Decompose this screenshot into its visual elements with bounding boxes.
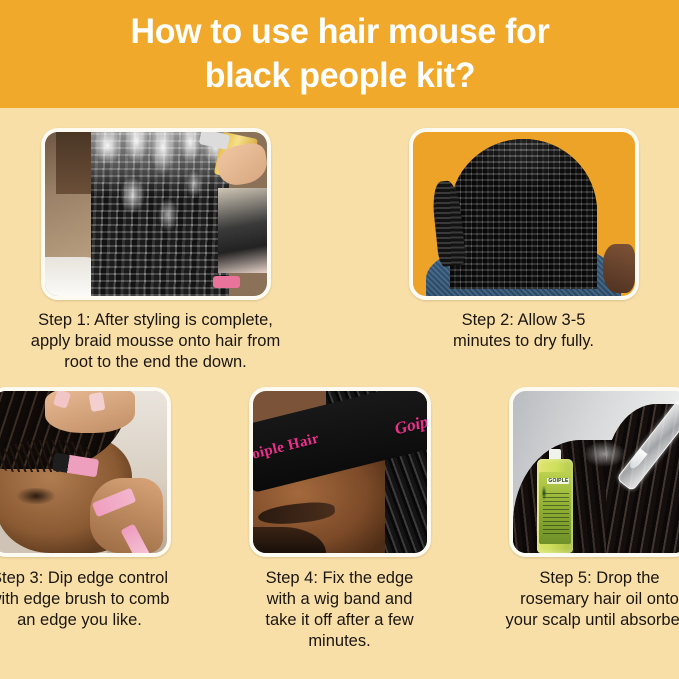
step-card-5: GOIPLE Step 5: Drop the rosemary hair oi… (495, 387, 679, 652)
page-title: How to use hair mouse for black people k… (91, 10, 588, 98)
step-5-photo-frame: GOIPLE (509, 387, 679, 557)
photo-1-background-clutter (218, 188, 267, 273)
step-card-2: Step 2: Allow 3-5 minutes to dry fully. (374, 128, 674, 373)
step-5-caption: Step 5: Drop the rosemary hair oil onto … (493, 568, 679, 631)
photo-2-braided-head (450, 139, 597, 290)
photo-5-label-text-lines (543, 491, 569, 534)
photo-1-mousse-foam-lower (111, 168, 209, 258)
infographic-canvas: How to use hair mouse for black people k… (0, 0, 679, 679)
wig-band-logo: Goiple (393, 409, 427, 440)
photo-2-arm (603, 244, 634, 293)
step-1-photo-frame (41, 128, 271, 300)
step-card-3: Step 3: Dip edge control with edge brush… (0, 387, 185, 652)
step-3-photo (0, 391, 167, 553)
steps-row-top: Step 1: After styling is complete, apply… (0, 128, 679, 373)
step-5-photo: GOIPLE (513, 391, 679, 553)
step-3-photo-frame (0, 387, 171, 557)
photo-5-bottle-label: GOIPLE (539, 472, 571, 543)
step-card-4: oiple Hair Goiple Step 4: Fix the edge w… (235, 387, 445, 652)
wig-band-text: oiple Hair (253, 430, 322, 463)
step-4-caption: Step 4: Fix the edge with a wig band and… (233, 568, 446, 652)
step-2-caption: Step 2: Allow 3-5 minutes to dry fully. (399, 310, 649, 352)
step-1-photo (45, 132, 267, 296)
step-4-photo-frame: oiple Hair Goiple (249, 387, 431, 557)
photo-3-nail-right (88, 392, 105, 412)
photo-5-oil-bottle: GOIPLE (537, 459, 574, 553)
step-3-caption: Step 3: Dip edge control with edge brush… (0, 568, 186, 631)
step-1-caption: Step 1: After styling is complete, apply… (8, 310, 304, 373)
step-2-photo-frame (409, 128, 639, 300)
photo-1-pink-object (213, 276, 240, 287)
photo-1-door (56, 132, 94, 194)
steps-row-bottom: Step 3: Dip edge control with edge brush… (0, 387, 679, 652)
photo-5-bottle-brand: GOIPLE (547, 478, 569, 484)
step-card-1: Step 1: After styling is complete, apply… (6, 128, 306, 373)
step-2-photo (413, 132, 635, 296)
step-4-photo: oiple Hair Goiple (253, 391, 427, 553)
header-banner: How to use hair mouse for black people k… (0, 0, 679, 108)
